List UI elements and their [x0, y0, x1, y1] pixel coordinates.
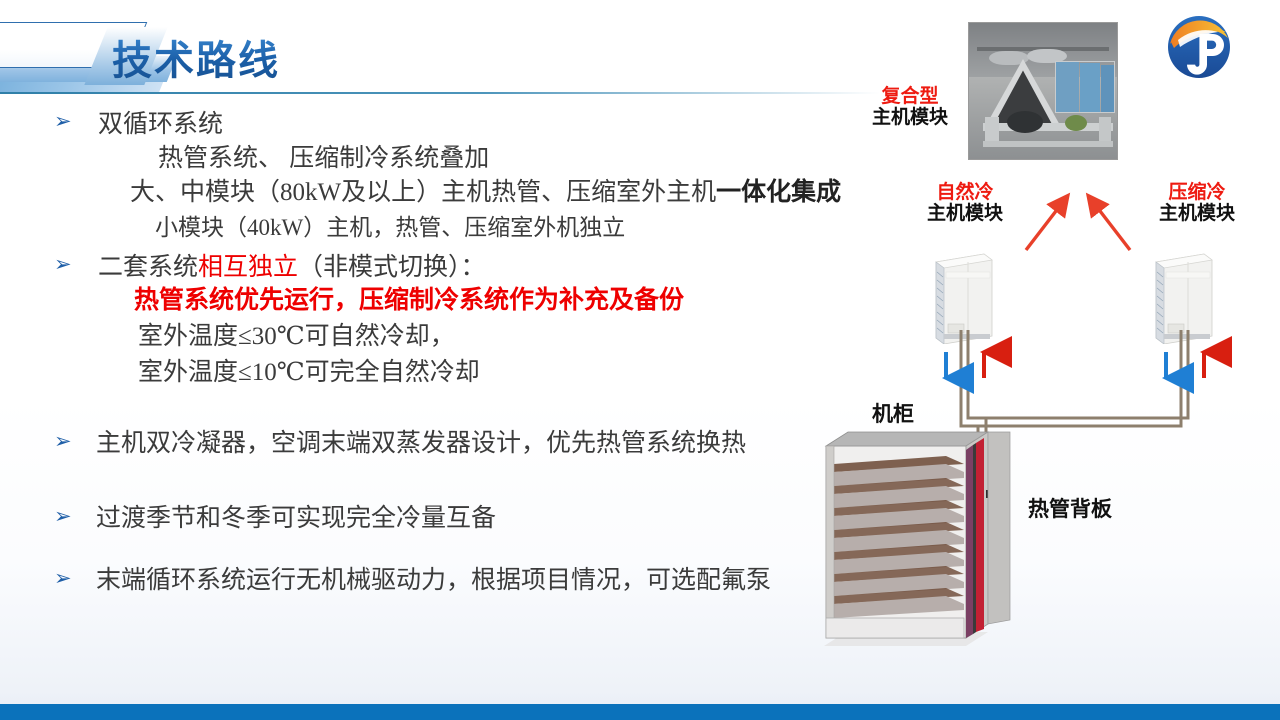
body-line-text: 室外温度≤30℃可自然冷却，: [138, 323, 455, 350]
label-free-cooling-bottom: 主机模块: [916, 203, 1014, 224]
body-line-text: 二套系统: [98, 254, 198, 281]
label-composite-module: 复合型 主机模块: [862, 86, 958, 129]
label-composite-bottom: 主机模块: [862, 107, 958, 128]
combine-arrows-icon: [1018, 188, 1138, 256]
body-line-text: 热管系统、 压缩制冷系统叠加: [158, 145, 489, 172]
system-diagram: 复合型 主机模块 自然冷 主机模块 压缩冷 主机模块: [800, 0, 1280, 720]
label-composite-top: 复合型: [862, 86, 958, 107]
body-line-text: 热管系统优先运行，压缩制冷系统作为补充及备份: [134, 287, 684, 314]
label-cabinet-text: 机柜: [872, 403, 914, 427]
body-line-emphasis: 相互独立: [198, 254, 298, 281]
label-compressor-cooling-bottom: 主机模块: [1148, 203, 1246, 224]
bottom-accent-bar: [0, 704, 1280, 720]
body-line-1-2: 热管系统、 压缩制冷系统叠加: [158, 138, 489, 174]
body-line-text: 主机双冷凝器，空调末端双蒸发器设计，优先热管系统换热: [96, 430, 746, 457]
body-line-2-3: 室外温度≤30℃可自然冷却，: [138, 316, 455, 352]
body-line-5-1: 末端循环系统运行无机械驱动力，根据项目情况，可选配氟泵: [96, 560, 771, 596]
body-line-text: （非模式切换）：: [298, 254, 486, 281]
body-line-2-4: 室外温度≤10℃可完全自然冷却: [138, 352, 480, 388]
bullet-marker-4: ➢: [54, 506, 72, 527]
bullet-marker-5: ➢: [54, 568, 72, 589]
body-line-text: 末端循环系统运行无机械驱动力，根据项目情况，可选配氟泵: [96, 567, 771, 594]
body-line-1-4: 小模块（40kW）主机，热管、压缩室外机独立: [155, 208, 625, 242]
bullet-marker-3: ➢: [54, 431, 72, 452]
body-line-text: 小模块（40kW）主机，热管、压缩室外机独立: [155, 215, 625, 240]
server-cabinet: [816, 424, 1016, 664]
body-line-1-1: 双循环系统: [98, 104, 223, 140]
body-line-text: 双循环系统: [98, 111, 223, 138]
label-free-cooling-module: 自然冷 主机模块: [916, 182, 1014, 225]
bullet-marker-1: ➢: [54, 111, 72, 132]
page-title: 技术路线: [112, 28, 280, 86]
body-line-text: 过渡季节和冬季可实现完全冷量互备: [96, 505, 496, 532]
slide-canvas: 技术路线 ➢ 双循环系统 热管系统、 压缩制冷系统叠: [0, 0, 1280, 720]
label-heatpipe-backplane-text: 热管背板: [1028, 498, 1112, 522]
body-line-1-3: 大、中模块（80kW及以上）主机热管、压缩室外主机一体化集成: [130, 172, 841, 208]
body-line-text: 室外温度≤10℃可完全自然冷却: [138, 359, 480, 386]
body-line-4-1: 过渡季节和冬季可实现完全冷量互备: [96, 498, 496, 534]
label-compressor-cooling-module: 压缩冷 主机模块: [1148, 182, 1246, 225]
body-line-2-1: 二套系统相互独立（非模式切换）：: [98, 247, 486, 283]
label-free-cooling-top: 自然冷: [916, 182, 1014, 203]
body-line-2-2: 热管系统优先运行，压缩制冷系统作为补充及备份: [134, 280, 684, 316]
label-heatpipe-backplane: 热管背板: [1028, 498, 1112, 522]
body-line-3-1: 主机双冷凝器，空调末端双蒸发器设计，优先热管系统换热: [96, 423, 746, 459]
label-cabinet: 机柜: [872, 403, 914, 427]
bullet-marker-2: ➢: [54, 254, 72, 275]
body-line-text: 大、中模块（80kW及以上）主机热管、压缩室外主机: [130, 179, 716, 206]
title-divider: [0, 92, 880, 94]
label-compressor-cooling-top: 压缩冷: [1148, 182, 1246, 203]
chiller-photo: [968, 22, 1118, 160]
